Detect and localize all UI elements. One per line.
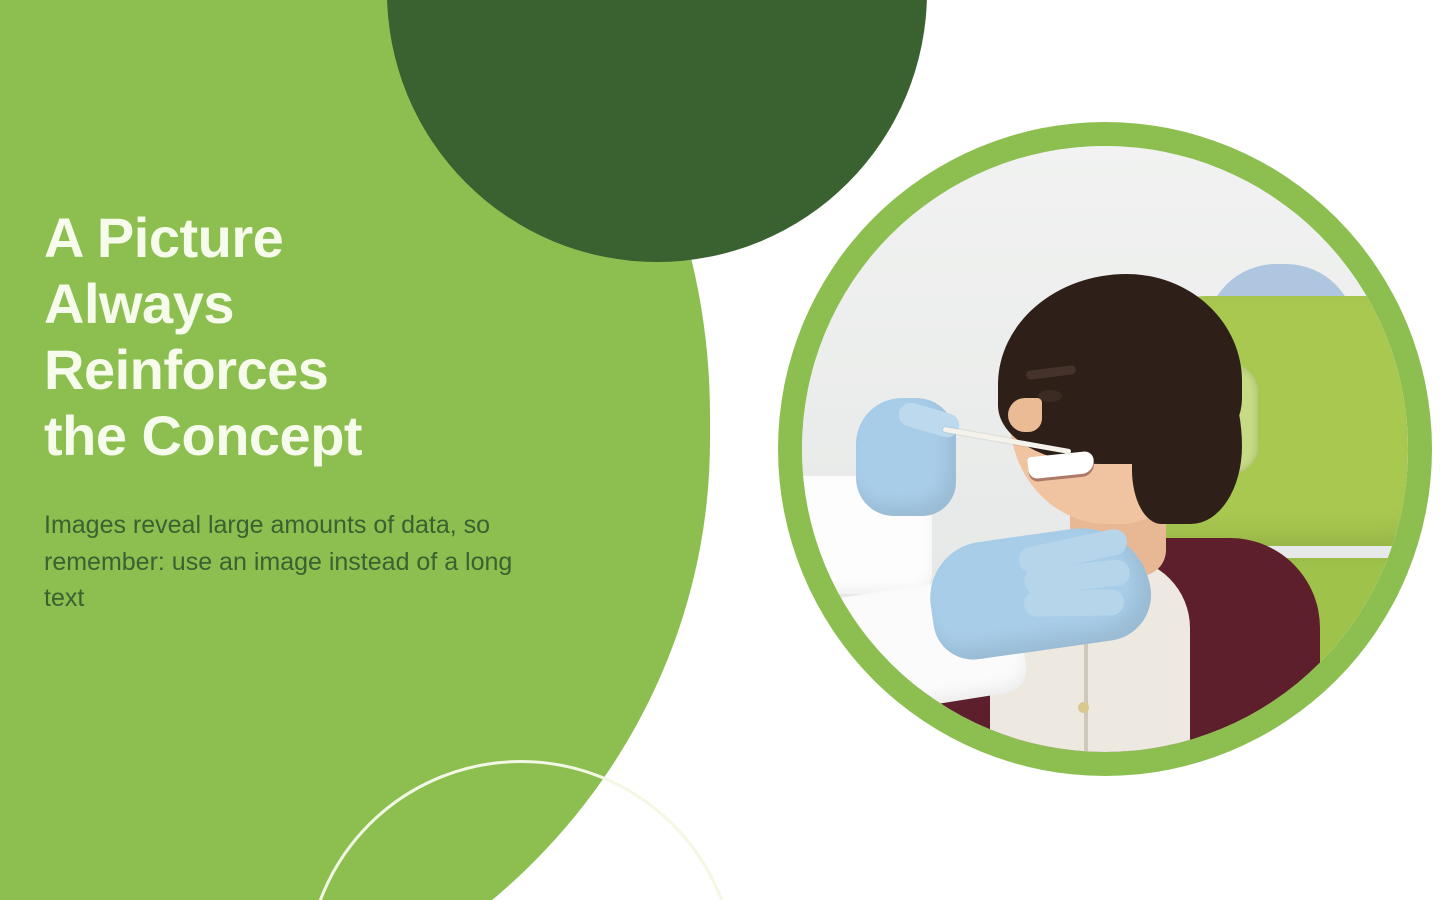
slide-canvas: A Picture Always Reinforces the Concept …	[0, 0, 1440, 900]
photo-circle-frame	[778, 122, 1432, 776]
patient-hair-side	[1132, 356, 1242, 524]
page-subtitle: Images reveal large amounts of data, so …	[44, 507, 549, 616]
photo-scene-illustration	[802, 146, 1408, 752]
text-block: A Picture Always Reinforces the Concept …	[44, 205, 604, 616]
glove-finger	[1024, 589, 1124, 617]
patient-nose	[1008, 398, 1042, 432]
shirt-button	[1078, 702, 1089, 713]
page-title: A Picture Always Reinforces the Concept	[44, 205, 604, 469]
photo-image	[802, 146, 1408, 752]
